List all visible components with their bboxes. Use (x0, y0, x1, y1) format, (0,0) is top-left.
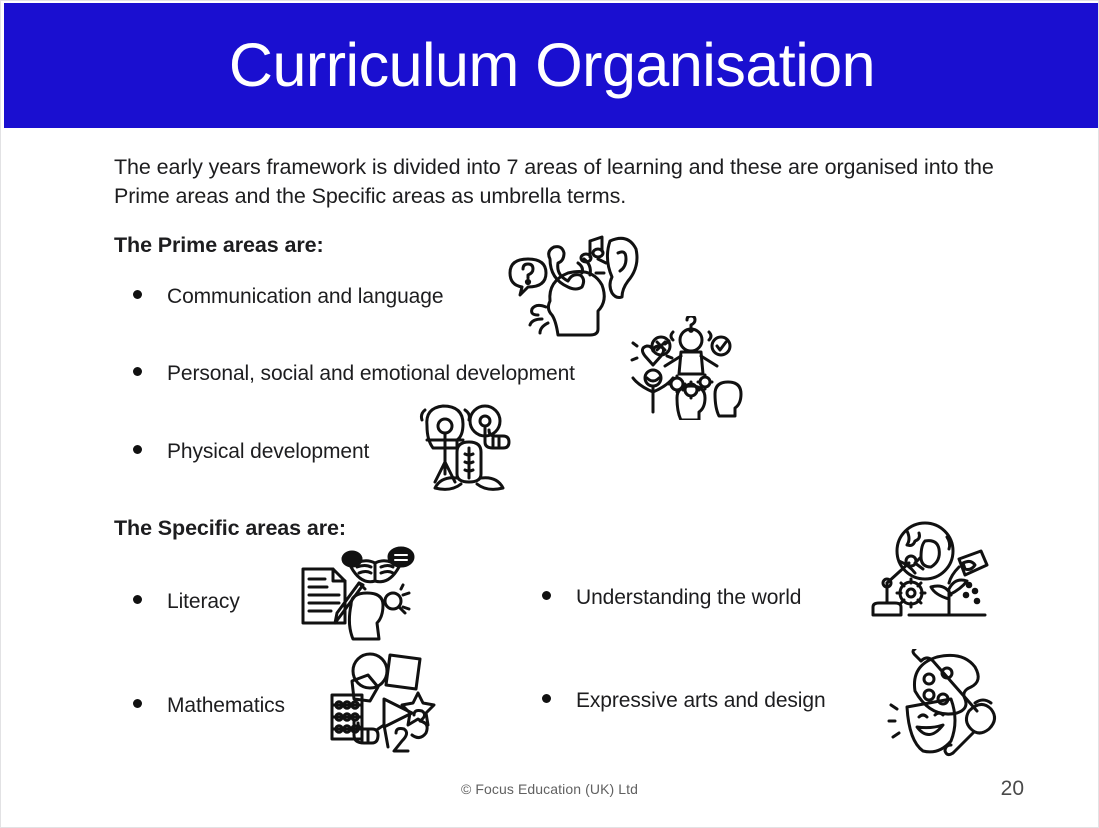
list-item-personal-social-emotional-development: Personal, social and emotional developme… (133, 362, 575, 386)
list-item-physical-development: Physical development (133, 440, 369, 464)
bullet-dot-icon (133, 699, 142, 708)
bullet-dot-icon (542, 694, 551, 703)
page-number: 20 (1001, 777, 1024, 801)
bullet-dot-icon (133, 445, 142, 454)
understanding-the-world-icon (863, 519, 989, 621)
list-item-label: Expressive arts and design (576, 689, 826, 713)
footer-copyright: © Focus Education (UK) Ltd (1, 781, 1098, 797)
list-item-label: Mathematics (167, 694, 285, 718)
bullet-dot-icon (133, 290, 142, 299)
list-item-label: Physical development (167, 440, 369, 464)
list-item-understanding-the-world: Understanding the world (542, 586, 801, 610)
mathematics-icon (328, 649, 438, 753)
list-item-label: Communication and language (167, 285, 443, 309)
list-item-literacy: Literacy (133, 590, 240, 614)
intro-paragraph: The early years framework is divided int… (114, 153, 994, 211)
list-item-expressive-arts-and-design: Expressive arts and design (542, 689, 826, 713)
bullet-dot-icon (133, 595, 142, 604)
list-item-label: Literacy (167, 590, 240, 614)
literacy-icon (297, 543, 419, 643)
expressive-arts-design-icon (885, 649, 1005, 759)
slide-title-band: Curriculum Organisation (4, 3, 1099, 128)
list-item-communication-and-language: Communication and language (133, 285, 443, 309)
communication-language-icon (506, 229, 642, 337)
bullet-dot-icon (542, 591, 551, 600)
list-item-mathematics: Mathematics (133, 694, 285, 718)
prime-areas-heading: The Prime areas are: (114, 233, 324, 258)
specific-areas-heading: The Specific areas are: (114, 516, 346, 541)
bullet-dot-icon (133, 367, 142, 376)
page-title: Curriculum Organisation (229, 35, 875, 96)
physical-development-icon (419, 396, 521, 493)
list-item-label: Understanding the world (576, 586, 801, 610)
list-item-label: Personal, social and emotional developme… (167, 362, 575, 386)
presentation-slide: Curriculum Organisation The early years … (0, 0, 1099, 828)
personal-social-emotional-icon (629, 316, 745, 420)
